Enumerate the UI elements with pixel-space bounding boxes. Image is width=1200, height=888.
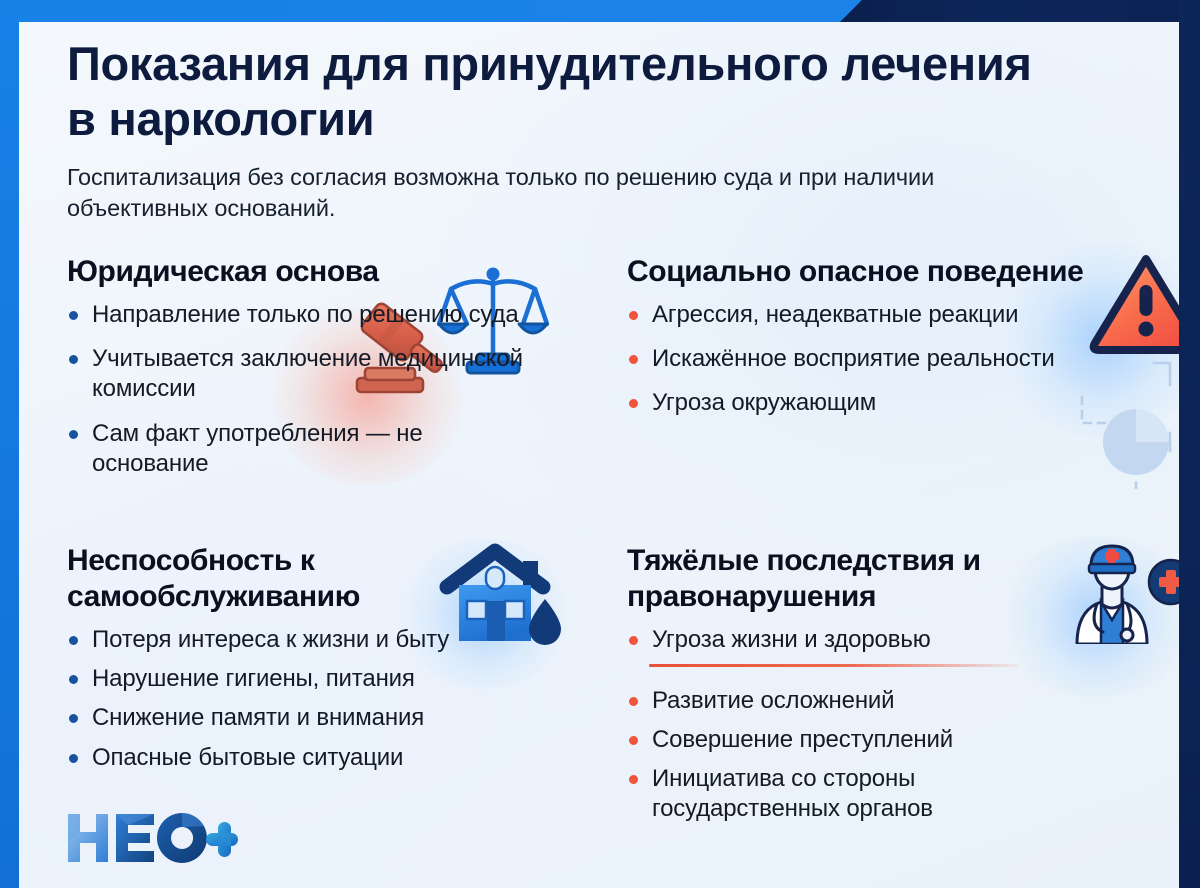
- list-item: Нарушение гигиены, питания: [67, 664, 532, 694]
- block-heading: Тяжёлые последствия и правонарушения: [627, 543, 1097, 615]
- accent-divider: [649, 664, 1019, 667]
- frame-border-top-navy: [840, 0, 1200, 22]
- page-title: Показания для принудительного лечения в …: [67, 37, 1067, 147]
- content-grid: Юридическая основа Направление только по…: [19, 254, 1179, 864]
- block-bullet-list: Угроза жизни и здоровью: [627, 625, 1179, 655]
- block-legal-basis: Юридическая основа Направление только по…: [67, 254, 627, 479]
- list-item: Учитывается заключение медицинской комис…: [67, 344, 532, 404]
- poster-canvas: Показания для принудительного лечения в …: [19, 22, 1179, 888]
- block-bullet-list-secondary: Развитие осложнений Совершение преступле…: [627, 686, 1179, 825]
- block-severe-consequences: Тяжёлые последствия и правонарушения Угр…: [627, 543, 1179, 834]
- list-item: Потеря интереса к жизни и быту: [67, 625, 532, 655]
- block-heading: Юридическая основа: [67, 254, 497, 290]
- list-item-highlighted: Угроза жизни и здоровью: [627, 625, 1092, 655]
- block-bullet-list: Потеря интереса к жизни и быту Нарушение…: [67, 625, 627, 773]
- infographic-poster: Показания для принудительного лечения в …: [0, 0, 1200, 888]
- block-bullet-list: Агрессия, неадекватные реакции Искажённо…: [627, 300, 1179, 419]
- list-item: Агрессия, неадекватные реакции: [627, 300, 1092, 330]
- block-heading: Социально опасное поведение: [627, 254, 1097, 290]
- block-bullet-list: Направление только по решению суда Учиты…: [67, 300, 627, 479]
- block-heading: Неспособность к самообслуживанию: [67, 543, 537, 615]
- block-self-care-inability: Неспособность к самообслуживанию Потеря …: [67, 543, 627, 782]
- block-dangerous-behavior: Социально опасное поведение Агрессия, не…: [627, 254, 1179, 419]
- list-item: Сам факт употребления — не основание: [67, 419, 532, 479]
- list-item: Опасные бытовые ситуации: [67, 743, 532, 773]
- list-item: Направление только по решению суда: [67, 300, 532, 330]
- poster-header: Показания для принудительного лечения в …: [67, 37, 1067, 224]
- frame-border-top-blue: [0, 0, 860, 22]
- list-item: Искажённое восприятие реальности: [627, 344, 1092, 374]
- frame-border-right: [1179, 0, 1200, 888]
- list-item: Совершение преступлений: [627, 725, 1092, 755]
- brand-logo: [66, 812, 238, 864]
- page-subtitle: Госпитализация без согласия возможна тол…: [67, 162, 1067, 225]
- list-item: Снижение памяти и внимания: [67, 703, 532, 733]
- frame-border-left: [0, 0, 19, 888]
- list-item: Развитие осложнений: [627, 686, 1092, 716]
- list-item: Инициатива со стороны государственных ор…: [627, 764, 1092, 824]
- list-item: Угроза окружающим: [627, 388, 1092, 418]
